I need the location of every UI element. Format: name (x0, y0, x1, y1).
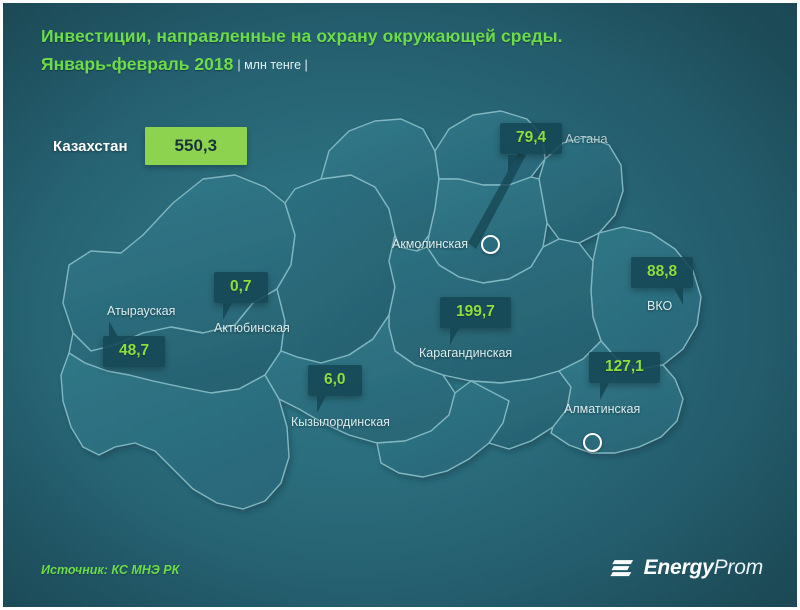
callout-vko-tail (674, 288, 683, 305)
callout-aktobe: 0,7 (214, 272, 268, 303)
city-dot-astana (481, 235, 500, 254)
title-line-1: Инвестиции, направленные на охрану окруж… (41, 23, 563, 49)
callout-astana-value: 79,4 (500, 123, 562, 154)
callout-astana: 79,4 (500, 123, 562, 154)
callout-almaty-value: 127,1 (589, 352, 660, 383)
city-dot-almaty (583, 433, 602, 452)
callout-karaganda-value: 199,7 (440, 297, 511, 328)
page-title: Инвестиции, направленные на охрану окруж… (41, 23, 563, 79)
title-period: Январь-февраль 2018 (41, 54, 233, 74)
callout-vko: 88,8 (631, 257, 693, 288)
region-label-akmolinskaya: Акмолинская (392, 237, 468, 251)
region-label-almatinskaya: Алматинская (564, 402, 640, 416)
region-label-kyzylordinskaya: Кызылординская (291, 415, 390, 429)
callout-karaganda: 199,7 (440, 297, 511, 328)
region-label-aktobinskaya: Актюбинская (214, 321, 290, 335)
infographic-canvas: Инвестиции, направленные на охрану окруж… (0, 0, 800, 610)
energyprom-logo-icon (609, 555, 635, 581)
callout-karaganda-tail (450, 328, 459, 345)
logo-text-bold: Energy (644, 556, 714, 579)
region-label-vko: ВКО (647, 299, 672, 313)
callout-almaty-tail (600, 383, 609, 400)
callout-aktobe-tail (223, 303, 232, 320)
region-label-karagandinskaya: Карагандинская (419, 346, 512, 360)
callout-atyrau-tail (109, 321, 118, 337)
callout-vko-value: 88,8 (631, 257, 693, 288)
energyprom-logo-text: EnergyProm (644, 556, 763, 580)
source-note: Источник: КС МНЭ РК (41, 563, 179, 577)
callout-astana-tail (508, 155, 517, 172)
callout-kyzylorda: 6,0 (308, 365, 362, 396)
callout-aktobe-value: 0,7 (214, 272, 268, 303)
region-label-atyrauskaya: Атырауская (107, 304, 175, 318)
title-line-2: Январь-февраль 2018| млн тенге | (41, 51, 563, 79)
callout-almaty: 127,1 (589, 352, 660, 383)
callout-kyzylorda-tail (317, 396, 326, 413)
country-total: Казахстан 550,3 (53, 127, 247, 165)
energyprom-logo: EnergyProm (609, 555, 763, 581)
city-label-astana: Астана (565, 131, 608, 146)
callout-atyrau-value: 48,7 (103, 336, 165, 367)
title-unit: | млн тенге | (237, 58, 307, 72)
callout-kyzylorda-value: 6,0 (308, 365, 362, 396)
logo-text-light: Prom (714, 556, 763, 579)
callout-atyrau: 48,7 (103, 336, 165, 367)
country-label: Казахстан (53, 138, 128, 155)
country-total-badge: 550,3 (145, 127, 248, 165)
